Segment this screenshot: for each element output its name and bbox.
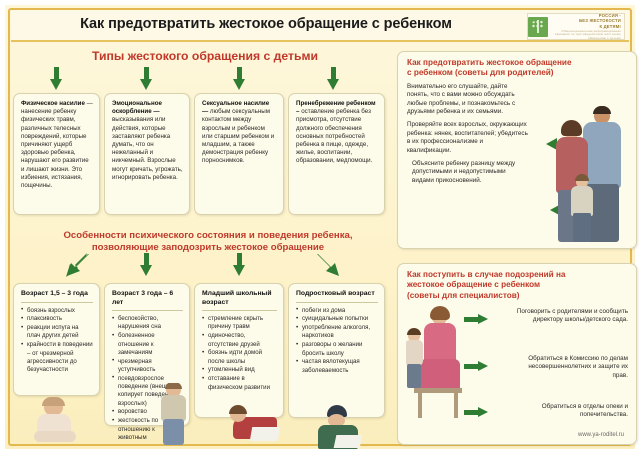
poster-root: Как предотвратить жестокое обращение с р… (0, 0, 640, 454)
panel-parents-advice: Внимательно его слушайте, дайте понять, … (398, 83, 529, 185)
signs-heading-line-1: Особенности психического состояния и пов… (63, 230, 352, 241)
list-item: чрезмерная уступчивость (112, 358, 183, 375)
page-title: Как предотвратить жестокое обращение с р… (51, 16, 481, 32)
list-item: разговоры о желании бросить школу (296, 341, 378, 358)
list-item: реакции испуга на плач других детей (21, 324, 93, 341)
website-url[interactable]: www.ya-roditel.ru (578, 432, 624, 438)
specialist-action-3: Обратиться в отделы опеки и попечительст… (516, 403, 628, 420)
advice-item: Объясните ребенку разницу между допустим… (407, 160, 529, 185)
arrow-down-icon-4 (327, 67, 340, 91)
age-group-title: Подростковый возраст (296, 290, 378, 303)
list-item: боязнь взрослых (21, 307, 93, 315)
age-group-list: боязнь взрослых плаксивость реакции испу… (21, 307, 93, 375)
age-group-list: стремление скрыть причину травм одиночес… (202, 315, 277, 392)
panel-specialists-title-line-1: Как поступить в случае подозрений на (407, 270, 565, 279)
arrow-down-icon-6 (233, 253, 246, 277)
age-group-card-3: Младший школьный возраст стремление скры… (194, 283, 284, 418)
panel-parents-title-line-1: Как предотвратить жестокое обращение (407, 58, 572, 67)
poster-header: Как предотвратить жестокое обращение с р… (11, 10, 629, 42)
list-item: одиночество, отсутствие друзей (202, 332, 277, 349)
list-item: боязнь идти домой после школы (202, 349, 277, 366)
list-item: плаксивость (21, 315, 93, 323)
list-item: побеги из дома (296, 307, 378, 315)
age-group-card-1: Возраст 1,5 – 3 года боязнь взрослых пла… (13, 283, 100, 396)
photo-schoolgirl-reading (227, 403, 283, 447)
arrow-diagonal-icon-1 (65, 252, 91, 278)
panel-parents-title-line-2: с ребенком (советы для родителей) (407, 68, 554, 77)
logo-caption: Общенациональная информационная кампания… (551, 30, 621, 40)
abuse-type-card-physical: Физическое насилие — нанесение ребенку ф… (13, 93, 100, 215)
abuse-type-lead: Эмоциональное оскорбление — (112, 100, 162, 115)
advice-item: Внимательно его слушайте, дайте понять, … (407, 83, 529, 117)
list-item: крайности в поведении – от чрезмерной аг… (21, 341, 93, 374)
panel-parents-title: Как предотвратить жестокое обращение с р… (398, 52, 636, 83)
photo-teen-reading (315, 405, 365, 449)
list-item: отставание в физическом развитии (202, 375, 277, 392)
specialist-action-2: Обратиться в Комиссию по делам несоверше… (516, 355, 628, 380)
photo-preschool-boy (153, 383, 193, 445)
list-item: употребление алкоголя, наркотиков (296, 324, 378, 341)
arrow-down-icon-5 (140, 253, 153, 277)
list-item: стремление скрыть причину травм (202, 315, 277, 332)
abuse-type-card-sexual: Сексуальное насилие — любым сексуальным … (194, 93, 284, 215)
abuse-type-lead: Физическое насилие (21, 100, 85, 107)
arrow-down-icon-2 (140, 67, 153, 91)
list-item: суицидальные попытки (296, 315, 378, 323)
arrow-diagonal-icon-2 (315, 252, 341, 278)
panel-specialists-title-line-2: жестокое обращение с ребенком (407, 280, 540, 289)
tree-icon (528, 17, 548, 37)
photo-specialist-with-children (406, 304, 468, 420)
abuse-type-card-emotional: Эмоциональное оскорбление — высказывания… (104, 93, 190, 215)
abuse-type-card-neglect: Пренебрежение ребенком – оставление ребе… (288, 93, 385, 215)
advice-item: Проверяйте всех взрослых, окружающих реб… (407, 121, 529, 155)
panel-specialists: Как поступить в случае подозрений на жес… (397, 263, 637, 445)
arrow-down-icon-1 (50, 67, 63, 91)
abuse-type-text: любым сексуальным контактом между взросл… (202, 108, 274, 164)
panel-specialists-title: Как поступить в случае подозрений на жес… (398, 264, 636, 305)
age-group-title: Возраст 3 года – 6 лет (112, 290, 183, 311)
photo-family (550, 98, 632, 246)
logo-line-3: К ДЕТЯМ! (600, 24, 622, 29)
age-group-title: Младший школьный возраст (202, 290, 277, 311)
list-item: беспокойство, нарушения сна (112, 315, 183, 332)
specialist-action-1: Поговорить с родителями и сообщить дирек… (516, 308, 628, 325)
age-group-list: побеги из дома суицидальные попытки упот… (296, 307, 378, 375)
age-group-card-4: Подростковый возраст побеги из дома суиц… (288, 283, 385, 418)
section-heading-types: Типы жестокого обращения с детьми (25, 49, 385, 63)
list-item: частая вялотекущая заболеваемость (296, 358, 378, 375)
panel-parents: Как предотвратить жестокое обращение с р… (397, 51, 637, 249)
section-heading-signs: Особенности психического состояния и пов… (19, 230, 397, 254)
photo-toddler (27, 397, 85, 445)
arrow-down-icon-3 (233, 67, 246, 91)
abuse-type-text: оставление ребенка без присмотра, отсутс… (296, 108, 372, 164)
list-item: утомленный вид (202, 366, 277, 374)
campaign-logo: РОССИЯ - БЕЗ ЖЕСТОКОСТИ К ДЕТЯМ! Общенац… (527, 13, 625, 40)
abuse-type-text: высказывания или действия, которые заста… (112, 116, 183, 180)
logo-text: РОССИЯ - БЕЗ ЖЕСТОКОСТИ К ДЕТЯМ! Общенац… (551, 13, 624, 40)
abuse-type-text: — нанесение ребенку физических травм, ра… (21, 100, 93, 189)
age-group-title: Возраст 1,5 – 3 года (21, 290, 93, 303)
panel-specialists-title-line-3: (советы для специалистов) (407, 291, 520, 300)
list-item: болезненное отношение к замечаниям (112, 332, 183, 357)
signs-heading-line-2: позволяющие заподозрить жестокое обращен… (92, 242, 324, 253)
